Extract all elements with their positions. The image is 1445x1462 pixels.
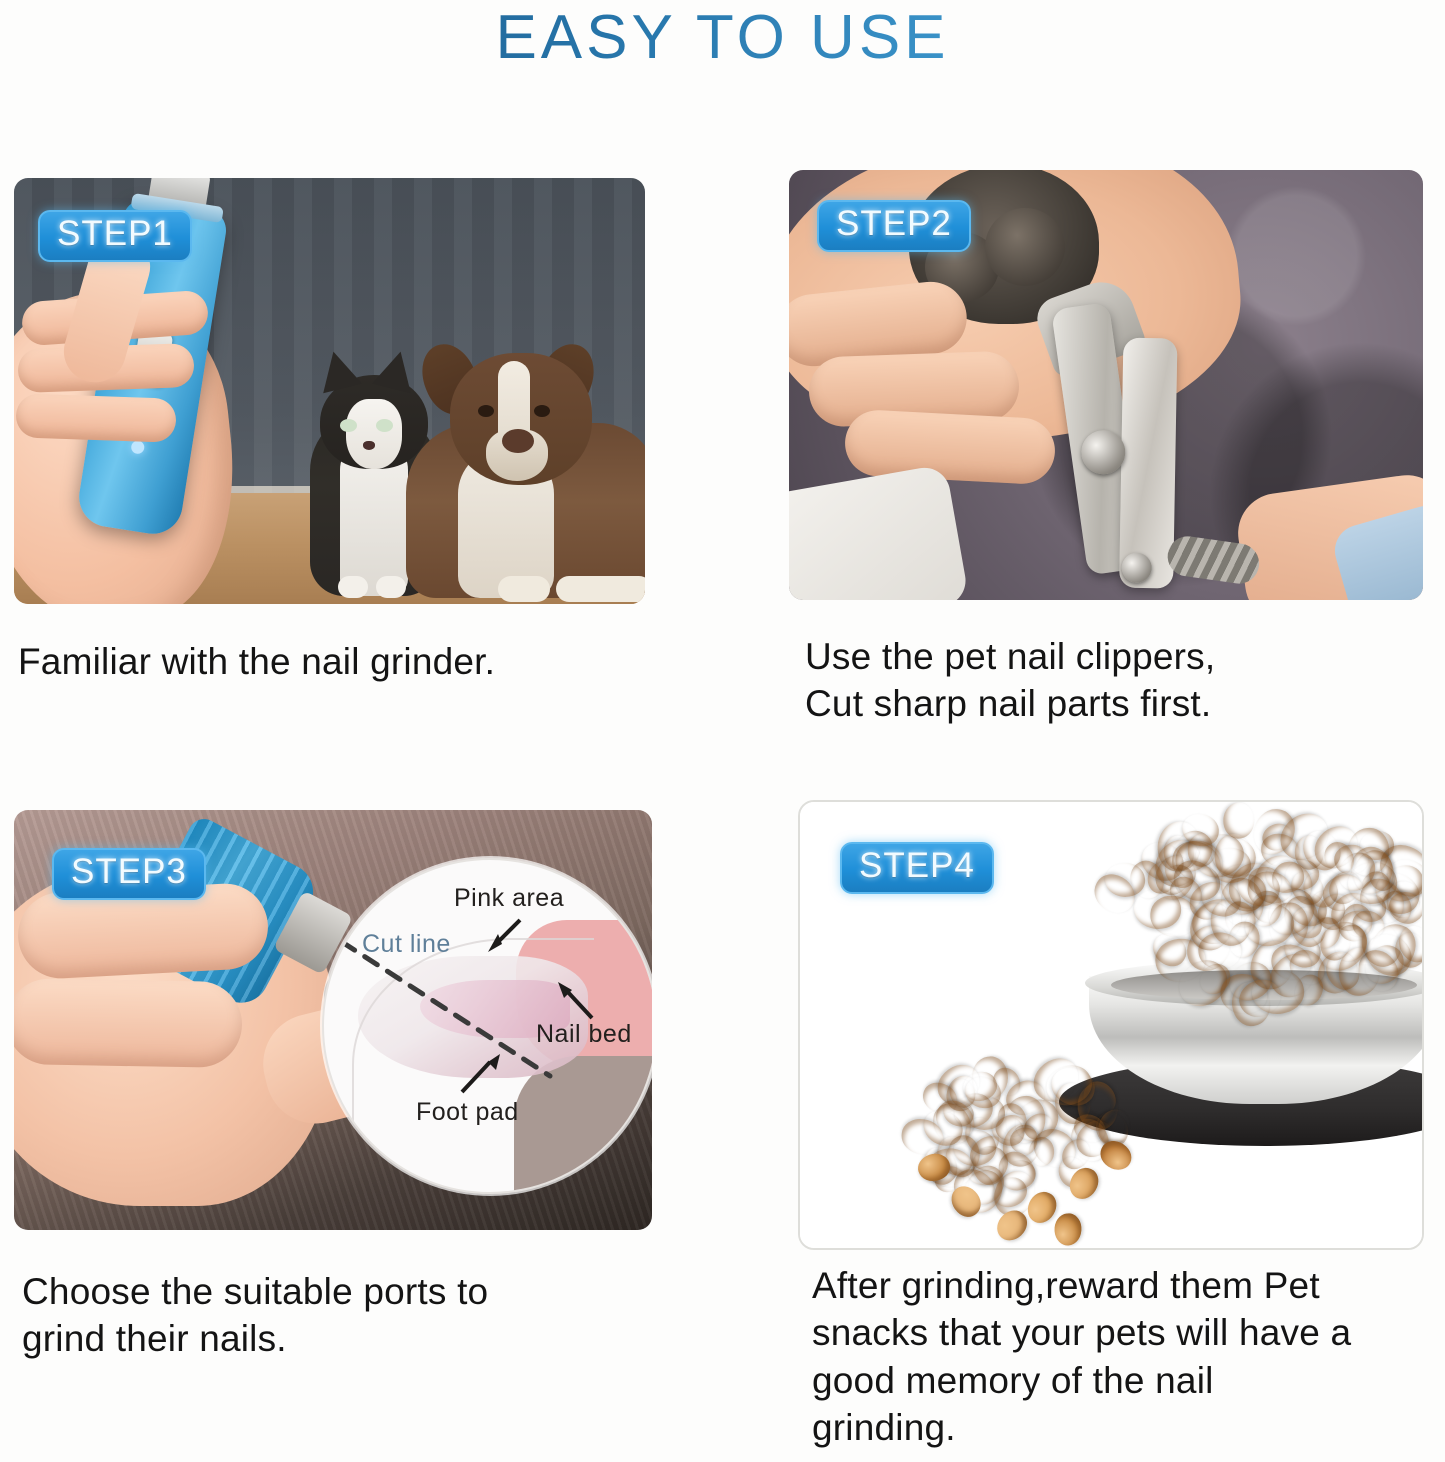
step-4-caption: After grinding,reward them Pet snacks th… (812, 1262, 1445, 1451)
kibble-piece (1053, 1212, 1083, 1246)
step-2-panel: STEP2 (789, 170, 1423, 600)
step-2-badge: STEP2 (817, 200, 971, 252)
dog-illustration (406, 333, 645, 598)
step-4-panel: STEP4 (798, 800, 1424, 1250)
step-2-caption: Use the pet nail clippers, Cut sharp nai… (805, 633, 1445, 728)
step-3-caption: Choose the suitable ports to grind their… (22, 1268, 722, 1363)
step-4-badge: STEP4 (840, 842, 994, 894)
step-1-caption: Familiar with the nail grinder. (18, 638, 718, 685)
step-3-panel: Pink area Cut line Nail bed Foot pad STE… (14, 810, 652, 1230)
step-1-panel: STEP1 (14, 178, 645, 604)
foot-pad-arrow-icon (456, 1048, 506, 1098)
kibble-piece (992, 1205, 1033, 1247)
diagram-label-pink-area: Pink area (454, 884, 564, 913)
nail-bed-arrow-icon (552, 978, 598, 1024)
diagram-label-cut-line: Cut line (362, 930, 451, 959)
step-1-badge: STEP1 (38, 210, 192, 262)
diagram-label-nail-bed: Nail bed (536, 1020, 632, 1049)
diagram-label-foot-pad: Foot pad (416, 1098, 519, 1127)
page-title: EASY TO USE (0, 2, 1445, 73)
nail-anatomy-diagram: Pink area Cut line Nail bed Foot pad (322, 858, 652, 1194)
pink-area-arrow-icon (482, 914, 526, 958)
step-3-badge: STEP3 (52, 848, 206, 900)
